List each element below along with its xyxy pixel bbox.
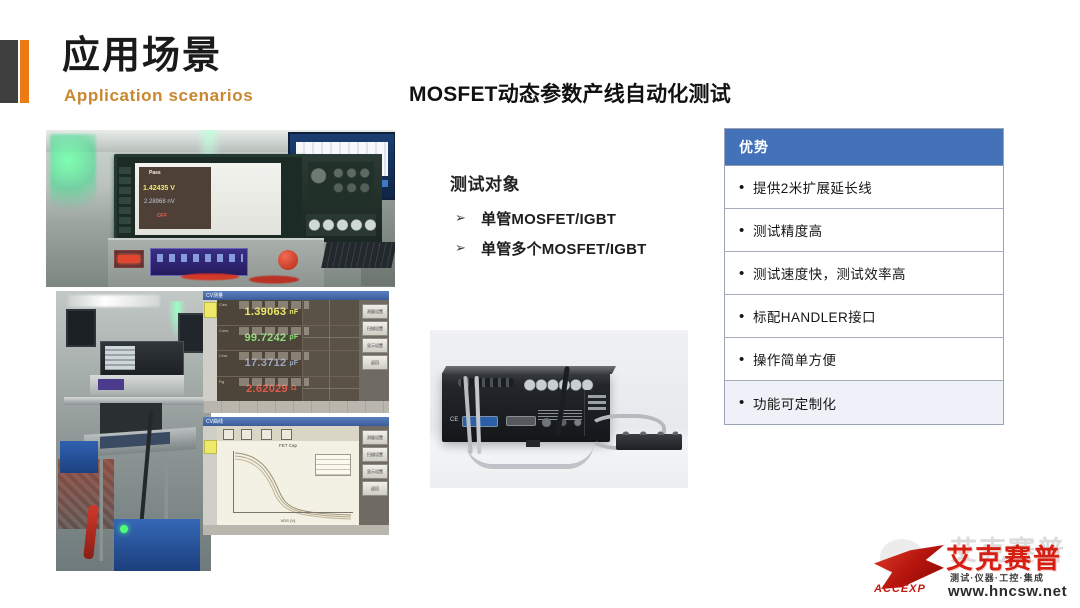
bullet-icon: • [739,266,753,281]
measurement-table [139,167,211,229]
dsub-port [506,416,536,426]
active-tab-indicator[interactable] [204,440,217,454]
ce-mark-icon: CE [450,416,458,424]
bullet-icon: • [739,352,753,367]
table-row: • 测试精度高 [725,209,1003,252]
bullet-icon: • [739,223,753,238]
instrument-display [98,379,124,390]
param-label: Rg [217,377,241,402]
window-titlebar: CV曲线 [203,417,389,426]
circuit-diagram-icon [302,300,359,325]
blue-machine-base [114,519,200,571]
photo-instrument-rear-panel: CE [430,330,688,488]
digital-readout [114,250,144,268]
status-bar [203,525,389,535]
page-title: 应用场景 [62,36,222,78]
table-row: • 标配HANDLER接口 [725,295,1003,338]
softkey-button[interactable]: 返回 [362,481,388,496]
circuit-diagram-icon [302,377,359,402]
primary-monitor: Pass 1.42435 V 2.28968 nV OFF [114,154,306,248]
screenshot-curve-view: CV曲线 FET Cap VDS (V) 测量设置 扫描设置 显示 [203,417,389,535]
table-cell-label: 提供2米扩展延长线 [753,177,872,197]
plot-area: FET Cap VDS (V) [217,441,359,525]
title-accent-bar-orange [20,40,29,103]
knob-cluster [308,162,374,208]
softkey-button[interactable]: 扫描设置 [362,321,388,336]
measurement-grid: Cies 1.39063 nF Coes 99.7242 pF Crss [217,300,359,401]
measurement-value-1: 1.42435 V [143,185,175,192]
softkey-button[interactable]: 扫描设置 [362,447,388,462]
save-icon[interactable] [281,429,292,440]
file-icon[interactable] [223,429,234,440]
row-metadata [239,327,309,335]
page-subtitle: Application scenarios [64,86,253,106]
table-cell-label: 操作简单方便 [753,349,836,369]
table-row: Crss 17.3712 µF [217,351,359,377]
bullet-icon: • [739,309,753,324]
title-accent-bar-dark [0,40,18,103]
monitor-left [66,309,96,347]
advantages-table-header: 优势 [725,129,1003,166]
cursor-icon[interactable] [261,429,272,440]
softkey-button[interactable]: 测量设置 [362,304,388,319]
company-logo: ACCEXP 艾克赛普 艾克赛普 测试·仪器·工控·集成 www.hncsw.n… [872,533,1072,603]
table-cell-label: 测试精度高 [753,220,823,240]
fixture-connectors [620,429,678,435]
bullet-icon: • [739,180,753,195]
list-item: ➢ 单管多个MOSFET/IGBT [455,233,755,263]
photo-production-line [56,291,211,571]
table-cell-label: 测试速度快，测试效率高 [753,263,906,283]
list-item-label: 单管MOSFET/IGBT [481,208,616,229]
measurement-value-2: 2.28968 nV [144,199,175,205]
value-unit: nF [289,309,298,316]
chassis-top-edge [442,366,616,374]
list-item: ➢ 单管MOSFET/IGBT [455,203,755,233]
table-cell-label: 标配HANDLER接口 [753,306,876,326]
chassis-foot [526,440,540,447]
row-metadata [239,378,309,386]
instrument-screen [105,346,135,370]
row-metadata [239,352,309,360]
table-row: • 功能可定制化 [725,381,1003,424]
table-row: • 测试速度快，测试效率高 [725,252,1003,295]
toolbar [217,426,359,442]
table-row: Rg 2.62029 Ω [217,377,359,402]
value-unit: µF [289,360,298,367]
green-light-glow [50,134,96,224]
table-row: • 操作简单方便 [725,338,1003,381]
connector-row [306,214,376,236]
x-axis [233,512,353,513]
logo-mark: ACCEXP [872,539,946,597]
active-tab-indicator[interactable] [204,302,217,318]
left-tab-rail [203,300,218,401]
red-cables [150,260,350,287]
window-title: CV曲线 [206,418,223,425]
ceiling-lamp [68,295,160,307]
value-unit: Ω [291,385,297,392]
screenshot-measurement-view: CV测量 Cies 1.39063 nF Coes 99.7242 pF [203,291,389,413]
terminal-strip [588,395,606,398]
blue-module-upper [60,441,98,473]
section-heading: MOSFET动态参数产线自动化测试 [409,78,731,108]
x-axis-label: VDS (V) [217,518,359,523]
softkey-button[interactable]: 显示设置 [362,338,388,353]
settings-icon[interactable] [241,429,252,440]
table-row: • 提供2米扩展延长线 [725,166,1003,209]
bullet-icon: • [739,395,753,410]
right-button-rail: 测量设置 扫描设置 显示设置 返回 [359,426,389,525]
arrow-bullet-icon: ➢ [455,210,481,226]
list-item-label: 单管多个MOSFET/IGBT [481,238,647,259]
status-bar [203,401,389,413]
row-metadata [239,301,309,309]
test-fixture [616,434,682,450]
value-unit: pF [289,334,298,341]
y-axis [233,451,234,513]
advantages-table: 优势 • 提供2米扩展延长线 • 测试精度高 • 测试速度快，测试效率高 • 标… [724,128,1004,425]
circuit-diagram-icon [302,326,359,351]
status-badge: Pass [149,170,161,176]
logo-url: www.hncsw.net [948,583,1067,600]
instrument-top [100,341,184,377]
window-title: CV测量 [206,292,223,299]
plot-legend [315,454,351,476]
monitor-screen: Pass 1.42435 V 2.28968 nV OFF [135,163,281,235]
param-label: Cies [217,300,241,325]
plot-title: FET Cap [217,443,359,448]
softkey-button[interactable]: 显示设置 [362,464,388,479]
slide-canvas: 应用场景 Application scenarios MOSFET动态参数产线自… [0,0,1080,608]
test-subject-title: 测试对象 [450,170,520,195]
softkey-button[interactable]: 测量设置 [362,430,388,445]
left-tab-rail [203,426,218,525]
circuit-diagram-icon [302,351,359,376]
instrument-second [90,375,184,395]
table-mat [100,432,170,449]
logo-brand-en: ACCEXP [874,583,946,595]
param-label: Coes [217,326,241,351]
measurement-value-3: OFF [157,213,167,219]
arrow-bullet-icon: ➢ [455,240,481,256]
test-subject-list: ➢ 单管MOSFET/IGBT ➢ 单管多个MOSFET/IGBT [455,203,755,263]
softkey-button[interactable]: 返回 [362,355,388,370]
usb-lan-ports [540,418,586,427]
param-label: Crss [217,351,241,376]
table-cell-label: 功能可定制化 [753,393,836,413]
monitor-side-buttons [119,167,131,233]
table-row: Cies 1.39063 nF [217,300,359,326]
instrument-control-panel [302,154,382,242]
right-button-rail: 测量设置 扫描设置 显示设置 返回 [359,300,389,401]
window-titlebar: CV测量 [203,291,389,300]
table-row: Coes 99.7242 pF [217,326,359,352]
photo-lab-workstation: Pass 1.42435 V 2.28968 nV OFF [46,130,395,287]
